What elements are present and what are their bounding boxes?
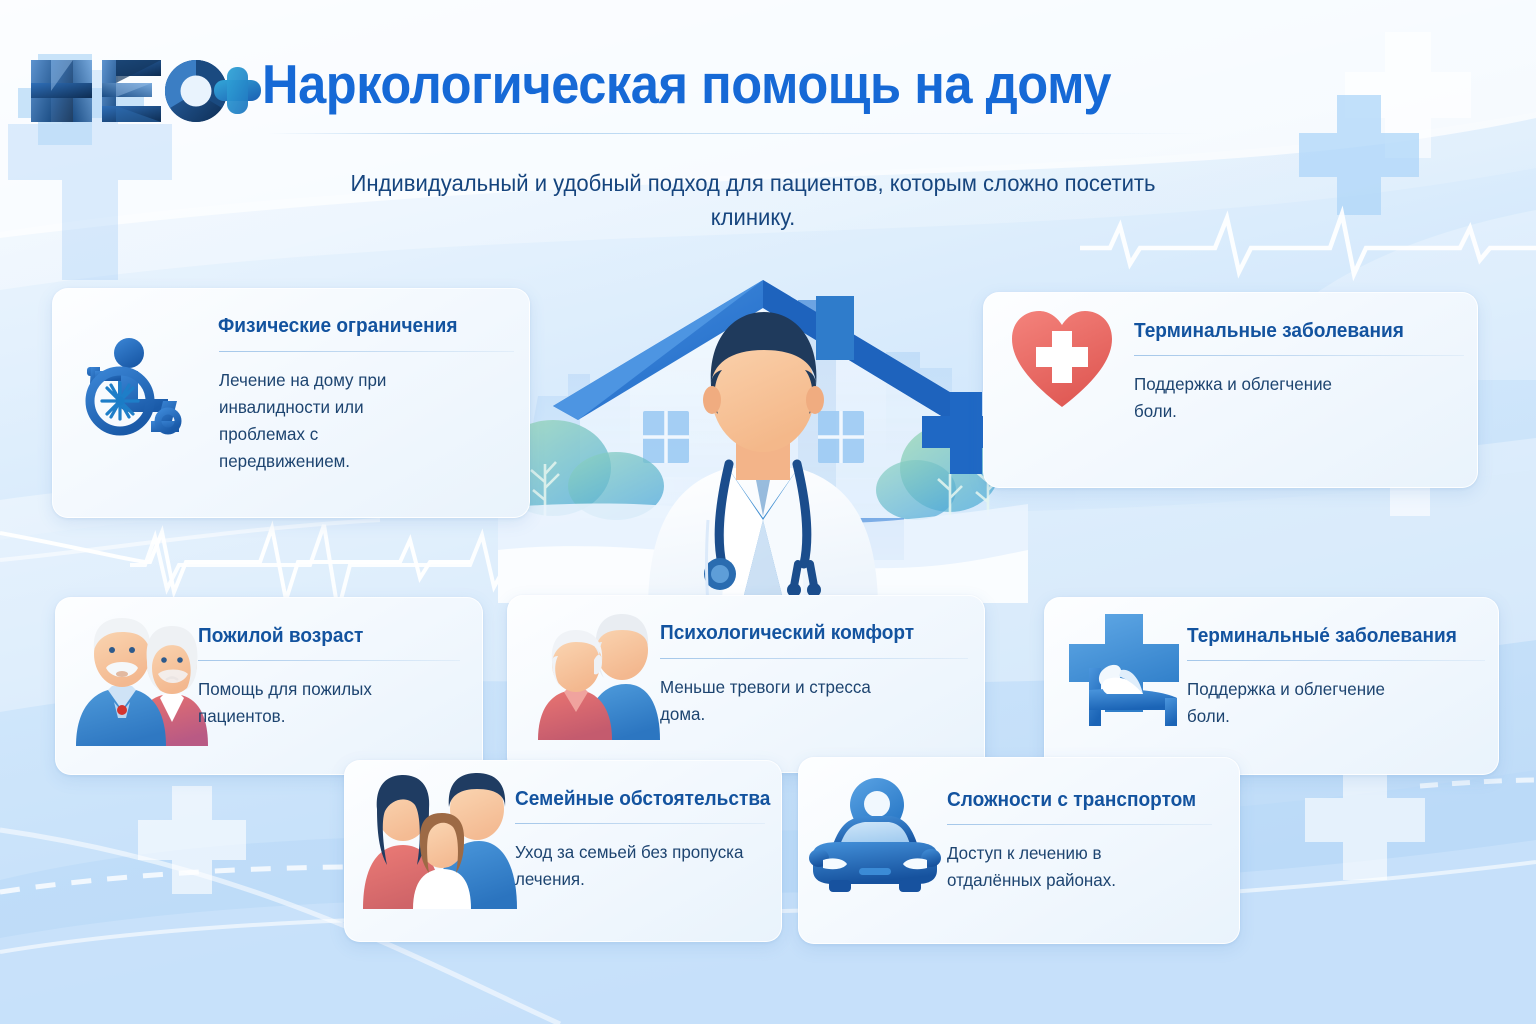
card-title: Пожилой возраст: [198, 624, 363, 648]
card-description: Поддержка и облегчение боли.: [1187, 676, 1430, 730]
card-title: Сложности с транспортом: [947, 788, 1196, 812]
elderly-couple-icon: [70, 606, 210, 746]
card-description: Доступ к лечению в отдалённых районах.: [947, 840, 1190, 894]
two-people-icon: [534, 608, 664, 740]
header: Наркологическая помощь на дому Индивидуа…: [0, 0, 1536, 150]
card-physical-limitations[interactable]: Физические ограничения Лечение на дому п…: [52, 288, 530, 518]
card-divider: [947, 824, 1212, 825]
card-description: Лечение на дому при инвалидности или про…: [219, 367, 413, 475]
card-elderly-age[interactable]: Пожилой возраст Помощь для пожилых пацие…: [55, 597, 483, 775]
page-subtitle: Индивидуальный и удобный подход для паци…: [335, 166, 1170, 234]
car-location-pin-icon: [809, 772, 941, 902]
page-title: Наркологическая помощь на дому: [262, 52, 1111, 116]
wheelchair-icon: [71, 309, 201, 439]
card-title: Физические ограничения: [218, 314, 457, 338]
card-divider: [219, 351, 514, 352]
card-title: Семейные обстоятельства: [515, 787, 770, 811]
card-divider: [660, 658, 968, 659]
card-psychological-comfort[interactable]: Психологический комфорт Меньше тревоги и…: [507, 595, 985, 773]
card-description: Поддержка и облегчение боли.: [1134, 371, 1377, 425]
card-divider: [1187, 660, 1485, 661]
card-terminal-illness-heart[interactable]: Терминальные заболевания Поддержка и обл…: [983, 292, 1478, 488]
heart-cross-icon: [1006, 305, 1118, 415]
card-description: Помощь для пожилых пациентов.: [198, 676, 421, 730]
card-description: Уход за семьей без пропуска лечения.: [515, 839, 748, 893]
card-description: Меньше тревоги и стресса дома.: [660, 674, 903, 728]
doctor-in-front-of-house: [498, 268, 1028, 603]
family-icon: [359, 769, 519, 909]
card-title: Терминальные́ заболевания: [1187, 624, 1457, 648]
card-terminal-illness-bed[interactable]: Терминальные́ заболевания Поддержка и об…: [1044, 597, 1499, 775]
card-title: Терминальные заболевания: [1134, 319, 1404, 343]
neo-plus-logo: [18, 40, 263, 145]
card-title: Психологический комфорт: [660, 621, 914, 645]
card-transport-difficulties[interactable]: Сложности с транспортом Доступ к лечению…: [798, 757, 1240, 944]
infographic-root: Наркологическая помощь на дому Индивидуа…: [0, 0, 1536, 1024]
title-divider: [268, 133, 1208, 134]
card-divider: [1134, 355, 1464, 356]
hospital-bed-cross-icon: [1061, 606, 1193, 738]
card-family-circumstances[interactable]: Семейные обстоятельства Уход за семьей б…: [344, 760, 782, 942]
card-divider: [515, 823, 765, 824]
card-divider: [198, 660, 460, 661]
